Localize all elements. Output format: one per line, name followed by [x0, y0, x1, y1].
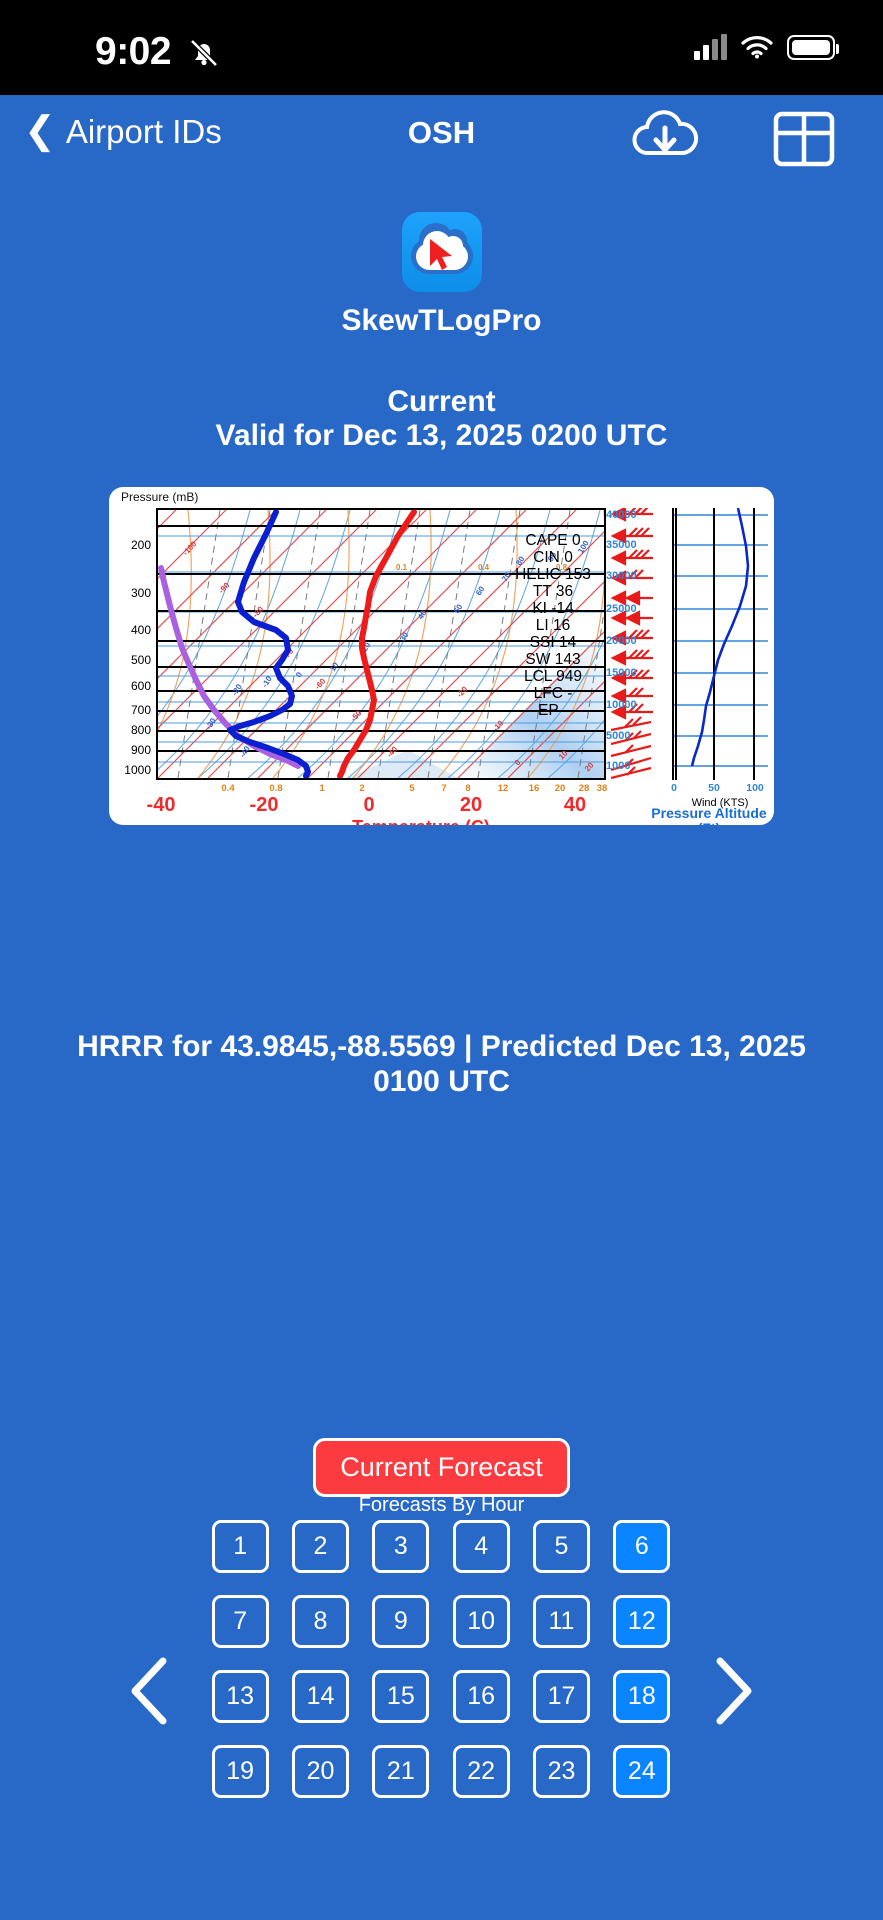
pressure-tick: 900 [131, 743, 151, 757]
hour-button-5[interactable]: 5 [533, 1520, 590, 1573]
wind-tick: 100 [746, 782, 764, 794]
hour-button-7[interactable]: 7 [212, 1595, 269, 1648]
hour-button-9[interactable]: 9 [372, 1595, 429, 1648]
hour-button-23[interactable]: 23 [533, 1745, 590, 1798]
palt-tick: 35000 [606, 539, 637, 551]
index-ki: KI -14 [507, 600, 599, 617]
hour-button-12[interactable]: 12 [613, 1595, 670, 1648]
mixing-tick: 12 [498, 783, 509, 794]
cloud-download-icon[interactable] [629, 107, 701, 167]
wind-speed-axis-labels: 0 50 100 [667, 782, 773, 796]
current-forecast-container: Current Forecast [0, 1438, 883, 1497]
palt-tick: 5000 [606, 730, 630, 742]
svg-text:50: 50 [452, 602, 465, 615]
mixing-tick: 1 [319, 783, 324, 794]
mixing-tick: 2 [359, 783, 364, 794]
hour-selector: 1 2 3 4 5 6 7 8 9 10 11 12 13 14 15 16 1… [0, 1520, 883, 1880]
hour-button-grid: 1 2 3 4 5 6 7 8 9 10 11 12 13 14 15 16 1… [205, 1520, 677, 1798]
wind-tick: 0 [671, 782, 677, 794]
skewtlogpro-app-icon [402, 212, 482, 292]
index-lcl: LCL 949 [507, 668, 599, 685]
svg-text:0.1: 0.1 [396, 563, 408, 572]
pressure-altitude-axis-title: Pressure Altitude (Ft) [649, 806, 769, 825]
page-title: OSH [0, 115, 883, 151]
status-bar: 9:02 [0, 0, 883, 95]
hour-button-19[interactable]: 19 [212, 1745, 269, 1798]
app-screen: 9:02 ❮ Airport IDs OSH [0, 0, 883, 1920]
index-cape: CAPE 0 [507, 532, 599, 549]
index-ep: EP - [507, 702, 599, 719]
mixing-tick: 7 [441, 783, 446, 794]
mixing-tick: 0.8 [269, 783, 282, 794]
palt-tick: 10000 [606, 699, 637, 711]
pressure-tick: 700 [131, 703, 151, 717]
wind-speed-curve [692, 508, 748, 766]
svg-text:0: 0 [294, 670, 304, 679]
pressure-tick: 200 [131, 538, 151, 552]
hour-button-22[interactable]: 22 [453, 1745, 510, 1798]
status-indicators [694, 34, 835, 60]
wind-speed-panel [672, 508, 768, 780]
hour-button-16[interactable]: 16 [453, 1670, 510, 1723]
svg-text:-100: -100 [181, 539, 199, 557]
palt-tick: 25000 [606, 603, 637, 615]
index-helic: HELIC 153 [507, 566, 599, 583]
chevron-right-icon[interactable] [708, 1656, 758, 1726]
hour-button-10[interactable]: 10 [453, 1595, 510, 1648]
temperature-curve [340, 512, 414, 776]
model-info-label: HRRR for 43.9845,-88.5569 | Predicted De… [60, 1030, 823, 1099]
hour-button-13[interactable]: 13 [212, 1670, 269, 1723]
index-cin: CIN 0 [507, 549, 599, 566]
app-name-label: SkewTLogPro [0, 304, 883, 338]
palt-tick: 20000 [606, 635, 637, 647]
temperature-axis-labels: -40 -20 0 20 40 [109, 794, 669, 818]
bell-slash-icon [187, 36, 221, 70]
status-time: 9:02 [95, 30, 171, 74]
temperature-tick: 0 [363, 794, 374, 817]
svg-text:10: 10 [328, 660, 341, 673]
hour-button-24[interactable]: 24 [613, 1745, 670, 1798]
hour-button-15[interactable]: 15 [372, 1670, 429, 1723]
index-sw: SW 143 [507, 651, 599, 668]
hour-button-17[interactable]: 17 [533, 1670, 590, 1723]
mixing-tick: 0.4 [221, 783, 234, 794]
cellular-signal-icon [694, 34, 727, 60]
hour-button-18[interactable]: 18 [613, 1670, 670, 1723]
forecast-status-label: Current [0, 385, 883, 419]
pressure-tick: 1000 [124, 763, 151, 777]
mixing-tick: 5 [409, 783, 414, 794]
pressure-tick: 800 [131, 723, 151, 737]
hour-button-11[interactable]: 11 [533, 1595, 590, 1648]
mixing-tick: 8 [465, 783, 470, 794]
index-li: LI 16 [507, 617, 599, 634]
pressure-tick: 300 [131, 586, 151, 600]
hour-button-2[interactable]: 2 [292, 1520, 349, 1573]
wind-tick: 50 [708, 782, 720, 794]
palt-tick: 1000 [606, 760, 630, 772]
hour-button-14[interactable]: 14 [292, 1670, 349, 1723]
current-forecast-button[interactable]: Current Forecast [313, 1438, 570, 1497]
pressure-altitude-labels: 1000 5000 10000 15000 20000 25000 30000 … [606, 508, 670, 780]
temperature-tick: -40 [147, 794, 176, 817]
hour-button-3[interactable]: 3 [372, 1520, 429, 1573]
palt-tick: 30000 [606, 570, 637, 582]
mixing-tick: 38 [597, 783, 608, 794]
forecasts-by-hour-label: Forecasts By Hour [0, 1494, 883, 1517]
hour-button-6[interactable]: 6 [613, 1520, 670, 1573]
forecast-valid-label: Valid for Dec 13, 2025 0200 UTC [0, 419, 883, 453]
pressure-axis-labels: 200 300 400 500 600 700 800 900 1000 [109, 508, 155, 780]
index-lfc: LFC - [507, 685, 599, 702]
skewt-chart-card[interactable]: Pressure (mB) 200 300 400 500 600 700 80… [109, 487, 774, 825]
app-icon-container [0, 212, 883, 297]
hour-button-21[interactable]: 21 [372, 1745, 429, 1798]
svg-text:-90: -90 [217, 580, 232, 595]
svg-text:-20: -20 [455, 684, 470, 699]
hour-button-4[interactable]: 4 [453, 1520, 510, 1573]
pressure-tick: 500 [131, 653, 151, 667]
forecast-validity: Current Valid for Dec 13, 2025 0200 UTC [0, 385, 883, 452]
pressure-tick: 400 [131, 623, 151, 637]
wind-speed-plot [674, 508, 768, 780]
chevron-left-icon[interactable] [125, 1656, 175, 1726]
svg-text:0.4: 0.4 [478, 563, 490, 572]
index-ssi: SSI 14 [507, 634, 599, 651]
mixing-tick: 28 [579, 783, 590, 794]
hour-button-20[interactable]: 20 [292, 1745, 349, 1798]
grid-layout-icon[interactable] [773, 111, 835, 167]
temperature-tick: 40 [564, 794, 586, 817]
mixing-tick: 20 [555, 783, 566, 794]
navigation-bar: ❮ Airport IDs OSH [0, 95, 883, 180]
palt-tick: 40000 [606, 509, 637, 521]
cursor-arrow-icon [428, 238, 458, 272]
temperature-tick: 20 [460, 794, 482, 817]
temperature-axis-title: Temperature (C) [271, 817, 571, 825]
wifi-icon [741, 35, 773, 59]
temperature-tick: -20 [250, 794, 279, 817]
mixing-tick: 16 [529, 783, 540, 794]
stability-indices-box: CAPE 0 CIN 0 HELIC 153 TT 36 KI -14 LI 1… [507, 532, 599, 720]
palt-tick: 15000 [606, 667, 637, 679]
battery-icon [787, 35, 835, 60]
pressure-axis-title: Pressure (mB) [121, 490, 198, 504]
skewt-plot-area: -100 -90 -80 -70 -60 -50 -40 -30 -20 -10… [156, 508, 606, 780]
pressure-tick: 600 [131, 679, 151, 693]
hour-button-1[interactable]: 1 [212, 1520, 269, 1573]
hour-button-8[interactable]: 8 [292, 1595, 349, 1648]
index-tt: TT 36 [507, 583, 599, 600]
